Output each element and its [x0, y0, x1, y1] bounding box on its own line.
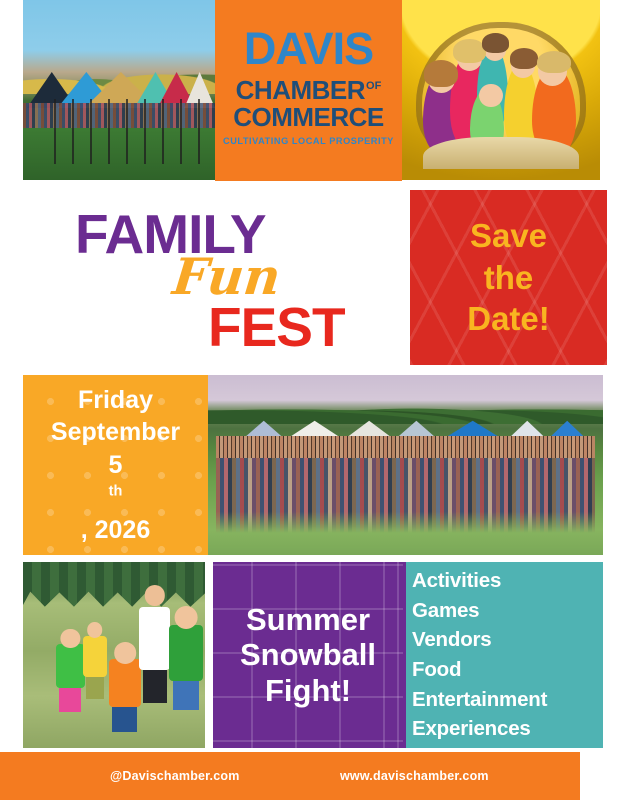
event-date-block: Friday September 5th, 2026	[23, 375, 208, 555]
tent-floor-decoration	[423, 137, 580, 169]
activities-block-edge-accent	[403, 562, 406, 748]
footer-bar: @Davischamber.com www.davischamber.com	[0, 752, 580, 800]
logo-commerce-text: COMMERCE	[215, 104, 402, 130]
save-the-date-text: Save the Date!	[410, 215, 607, 340]
snowball-fight-text: Summer Snowball Fight!	[213, 602, 403, 707]
title-fest-text: FEST	[208, 300, 345, 355]
headline-line-1: Summer	[213, 602, 403, 637]
logo-of-text: OF	[366, 80, 381, 92]
group-crowd-photo	[208, 375, 603, 555]
headline-line-2: Snowball	[213, 637, 403, 672]
event-month: September	[23, 416, 208, 449]
festival-tents-photo	[23, 0, 215, 180]
activities-list-block: Activities Games Vendors Food Entertainm…	[403, 562, 603, 748]
kids-playing-photo	[23, 562, 205, 748]
activity-item-experiences: Experiences	[412, 714, 603, 744]
save-the-date-line-1: Save	[420, 215, 597, 257]
logo-stack: DAVIS CHAMBEROF COMMERCE CULTIVATING LOC…	[215, 26, 402, 146]
family-fun-fest-flyer: DAVIS CHAMBEROF COMMERCE CULTIVATING LOC…	[0, 0, 618, 800]
activity-item-activities: Activities	[412, 566, 603, 596]
activity-item-games: Games	[412, 596, 603, 626]
event-day-suffix: th	[109, 484, 123, 500]
tent-opening-decoration	[416, 22, 586, 170]
event-weekday: Friday	[23, 384, 208, 417]
hedge-decoration	[23, 562, 205, 607]
footer-website-url[interactable]: www.davischamber.com	[340, 769, 489, 783]
logo-tagline-text: CULTIVATING LOCAL PROSPERITY	[215, 137, 402, 146]
poles-decoration	[38, 99, 199, 164]
snowball-fight-block: Summer Snowball Fight!	[213, 562, 403, 748]
kids-in-tent-photo	[402, 0, 600, 180]
footer-social-handle[interactable]: @Davischamber.com	[110, 769, 240, 783]
logo-block: DAVIS CHAMBEROF COMMERCE CULTIVATING LOC…	[215, 0, 402, 181]
save-the-date-line-3: Date!	[420, 298, 597, 340]
event-date-text: Friday September 5th, 2026	[23, 384, 208, 547]
logo-davis-text: DAVIS	[215, 26, 402, 71]
title-fun-text: Fun	[170, 252, 283, 302]
save-the-date-line-2: the	[420, 257, 597, 299]
event-day: 5	[23, 449, 208, 482]
save-the-date-block: Save the Date!	[410, 190, 607, 365]
headline-line-3: Fight!	[213, 673, 403, 708]
logo-chamber-row: CHAMBEROF	[215, 77, 402, 103]
event-day-year: 5th, 2026	[23, 449, 208, 547]
activity-item-vendors: Vendors	[412, 625, 603, 655]
activity-item-entertainment: Entertainment	[412, 685, 603, 715]
crowd-heads-decoration	[216, 436, 595, 458]
title-block: FAMILY Fun FEST	[23, 190, 410, 365]
activity-item-food: Food	[412, 655, 603, 685]
event-year: , 2026	[23, 514, 208, 547]
logo-chamber-text: CHAMBER	[236, 75, 365, 105]
